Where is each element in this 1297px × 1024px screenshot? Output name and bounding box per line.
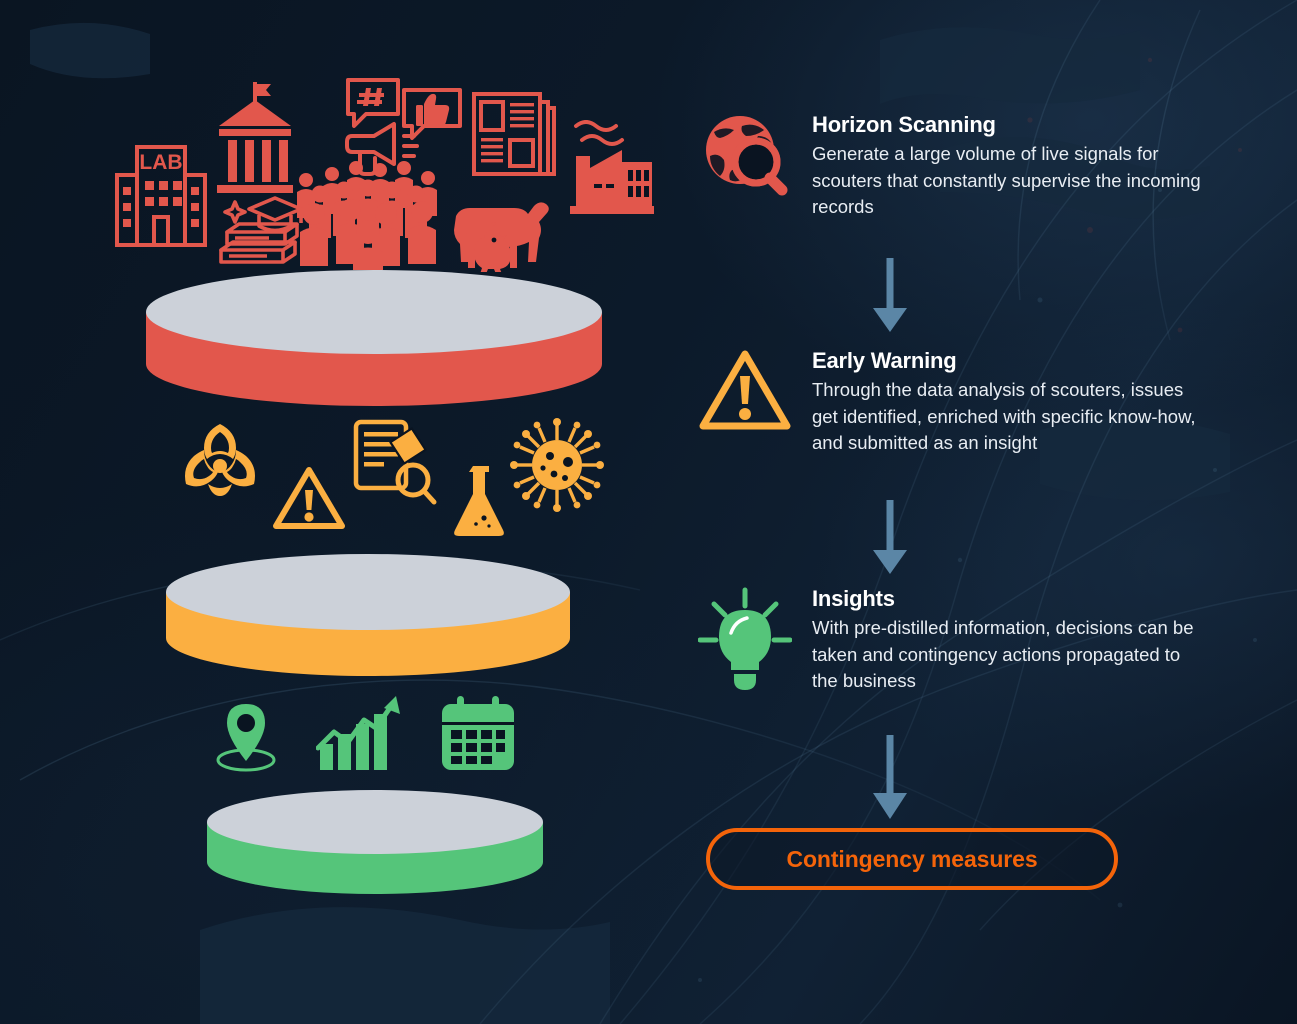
step-text: Horizon Scanning Generate a large volume… <box>812 112 1204 221</box>
factory-icon <box>566 120 658 218</box>
warning-triangle-icon <box>697 348 793 436</box>
step-icon-wrapper <box>696 586 794 690</box>
globe-magnifier-icon <box>702 112 788 198</box>
funnel-layer-issues <box>158 552 578 682</box>
step-icon-wrapper <box>696 348 794 436</box>
flask-icon <box>452 462 510 540</box>
process-steps: Horizon Scanning Generate a large volume… <box>686 0 1297 1024</box>
lab-building-icon: LAB <box>115 135 207 249</box>
step-icon-wrapper <box>696 112 794 198</box>
step-horizon-scanning[interactable]: Horizon Scanning Generate a large volume… <box>696 112 1204 221</box>
government-building-icon <box>215 82 295 200</box>
funnel-layer-signals <box>138 268 610 410</box>
livestock-icon <box>448 194 558 272</box>
location-pin-icon <box>208 698 284 774</box>
calendar-icon <box>440 696 516 772</box>
growth-chart-icon <box>316 694 402 774</box>
funnel-diagram: LAB <box>0 0 680 1024</box>
arrow-insights-to-cta <box>869 735 911 821</box>
step-text: Early Warning Through the data analysis … <box>812 348 1204 457</box>
lab-building-label: LAB <box>139 151 182 174</box>
step-title: Early Warning <box>812 348 1204 374</box>
arrow-warning-to-insights <box>869 500 911 576</box>
step-title: Horizon Scanning <box>812 112 1204 138</box>
warning-triangle-icon <box>272 464 346 534</box>
step-description: Generate a large volume of live signals … <box>812 141 1204 221</box>
step-description: Through the data analysis of scouters, i… <box>812 377 1204 457</box>
step-insights[interactable]: Insights With pre-distilled information,… <box>696 586 1204 695</box>
step-description: With pre-distilled information, decision… <box>812 615 1204 695</box>
newspaper-icon <box>472 90 562 180</box>
signal-source-icons: LAB <box>110 72 670 267</box>
step-title: Insights <box>812 586 1204 612</box>
document-review-icon <box>352 418 438 510</box>
virus-icon <box>510 418 604 512</box>
contingency-measures-button[interactable]: Contingency measures <box>706 828 1118 890</box>
education-books-icon <box>215 192 317 272</box>
insight-icons <box>200 694 540 782</box>
infographic-canvas: LAB <box>0 0 1297 1024</box>
funnel-layer-insights <box>200 786 550 904</box>
biohazard-icon <box>180 422 260 498</box>
lightbulb-icon <box>698 586 792 690</box>
step-text: Insights With pre-distilled information,… <box>812 586 1204 695</box>
issue-icons <box>172 412 612 542</box>
step-early-warning[interactable]: Early Warning Through the data analysis … <box>696 348 1204 457</box>
contingency-measures-label: Contingency measures <box>786 846 1037 873</box>
arrow-scanning-to-warning <box>869 258 911 334</box>
